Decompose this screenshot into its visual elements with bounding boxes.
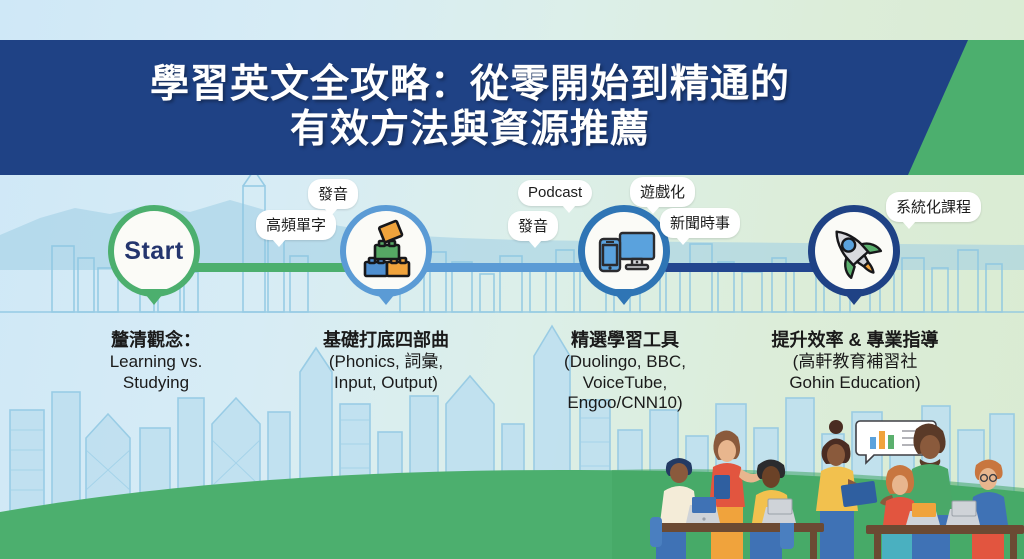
caption-head: 釐清觀念： xyxy=(74,330,238,352)
page-title: 學習英文全攻略：從零開始到精通的 有效方法與資源推薦 xyxy=(0,40,940,175)
timeline-node-foundation[interactable] xyxy=(340,205,432,297)
node-pointer xyxy=(611,289,637,305)
caption-head: 提升效率 & 專業指導 xyxy=(744,330,966,352)
caption-foundation: 基礎打底四部曲 (Phonics, 詞彙, Input, Output) xyxy=(296,330,476,393)
node-pointer xyxy=(841,289,867,305)
classroom-students-illustration xyxy=(620,407,1024,559)
caption-line-1: Learning vs. xyxy=(74,352,238,373)
title-line-1: 學習英文全攻略：從零開始到精通的 xyxy=(150,63,790,108)
caption-start: 釐清觀念： Learning vs. Studying xyxy=(74,330,238,393)
bubble-podcast: Podcast xyxy=(518,180,592,206)
caption-line-1: (Phonics, 詞彙, xyxy=(296,352,476,373)
node-pointer xyxy=(373,289,399,305)
caption-line-2: Studying xyxy=(74,373,238,394)
infographic-poster: 學習英文全攻略：從零開始到精通的 有效方法與資源推薦 Start xyxy=(0,0,1024,559)
bubble-pronunciation-1: 發音 xyxy=(308,179,358,209)
rocket-icon xyxy=(820,217,888,285)
bubble-systematic-courses: 系統化課程 xyxy=(886,192,981,222)
desk-right xyxy=(866,525,1024,534)
timeline-node-start[interactable]: Start xyxy=(108,205,200,297)
caption-tools: 精選學習工具 (Duolingo, BBC, VoiceTube, Engoo/… xyxy=(534,330,716,414)
bubble-pronunciation-2: 發音 xyxy=(508,211,558,241)
timeline-node-tools[interactable] xyxy=(578,205,670,297)
caption-line-1: (Duolingo, BBC, xyxy=(534,352,716,373)
title-line-2: 有效方法與資源推薦 xyxy=(290,108,650,153)
connector-start-to-foundation xyxy=(190,263,350,272)
caption-head: 精選學習工具 xyxy=(534,330,716,352)
connector-tools-to-acceleration xyxy=(665,263,820,272)
start-node-label: Start xyxy=(108,205,200,297)
title-banner: 學習英文全攻略：從零開始到精通的 有效方法與資源推薦 xyxy=(0,40,1024,175)
caption-line-2: Input, Output) xyxy=(296,373,476,394)
bubble-gamification: 遊戲化 xyxy=(630,177,695,207)
desk-left xyxy=(656,523,824,532)
lego-blocks-icon xyxy=(352,217,420,285)
caption-acceleration: 提升效率 & 專業指導 (高軒教育補習社 Gohin Education) xyxy=(744,330,966,393)
caption-head: 基礎打底四部曲 xyxy=(296,330,476,352)
caption-line-1: (高軒教育補習社 xyxy=(744,352,966,373)
bubble-news-current-affairs: 新聞時事 xyxy=(660,208,740,238)
connector-foundation-to-tools xyxy=(420,263,590,272)
caption-line-2: Gohin Education) xyxy=(744,373,966,394)
timeline-node-acceleration[interactable] xyxy=(808,205,900,297)
caption-line-2: VoiceTube, xyxy=(534,373,716,394)
devices-icon xyxy=(590,217,658,285)
